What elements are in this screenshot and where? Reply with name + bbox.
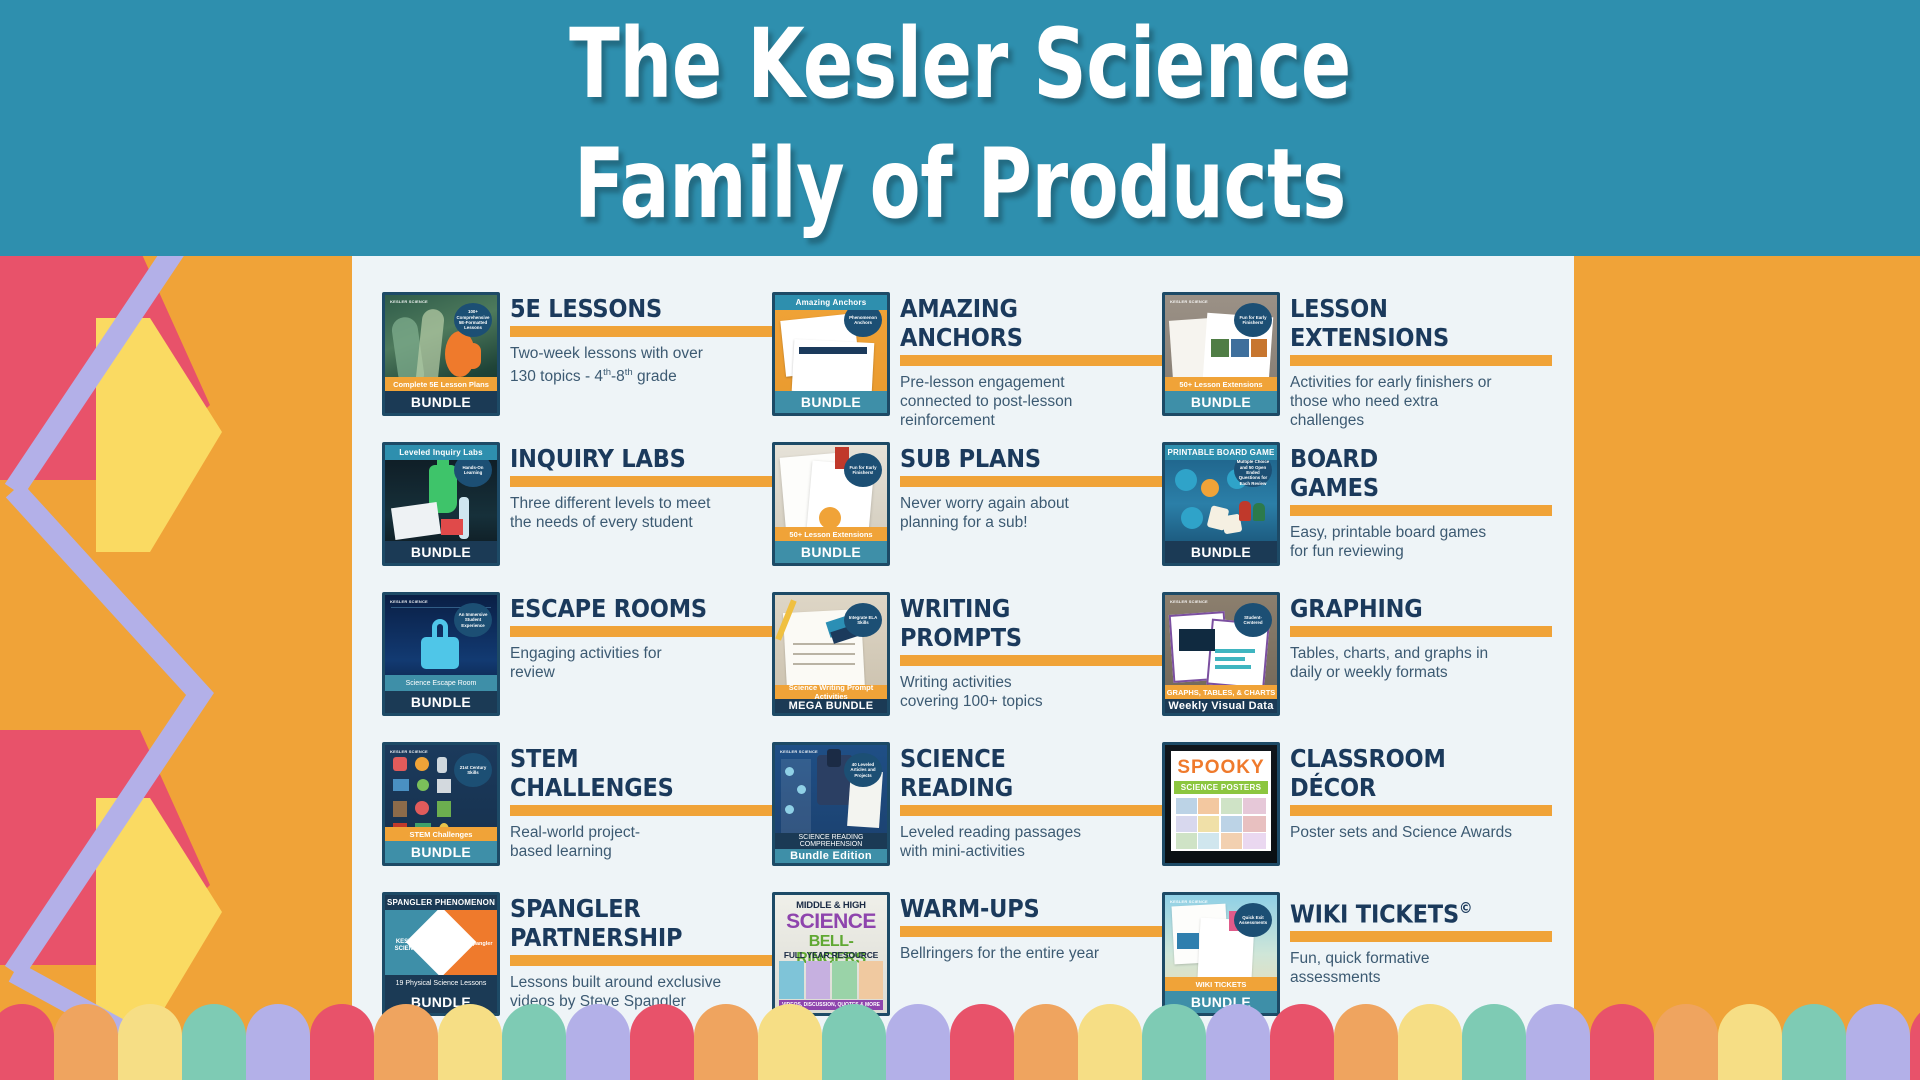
product-thumbnail[interactable]: KESLER SCIENCE40 Leveled Articles and Pr… xyxy=(772,742,890,866)
bellringer-grid xyxy=(779,961,883,999)
scallop xyxy=(1334,1004,1398,1080)
scallop xyxy=(1398,1004,1462,1080)
spooky-subtitle: SCIENCE POSTERS xyxy=(1174,781,1268,794)
product-text-block: LESSON EXTENSIONSActivities for early fi… xyxy=(1290,292,1552,430)
product-title: WRITING PROMPTS xyxy=(900,594,1162,652)
product-title: CLASSROOM DÉCOR xyxy=(1290,744,1552,802)
art-detail xyxy=(421,637,459,669)
art-detail xyxy=(1253,503,1265,521)
thumbnail-badge: Fun for Early Finishers! xyxy=(1234,303,1272,337)
product-description: Tables, charts, and graphs in daily or w… xyxy=(1290,644,1552,682)
bundle-label: BUNDLE xyxy=(385,691,497,713)
scallop xyxy=(1910,1004,1920,1080)
art-detail xyxy=(437,779,451,793)
product-description: Easy, printable board games for fun revi… xyxy=(1290,523,1552,561)
art-detail xyxy=(393,779,409,791)
scallop xyxy=(182,1004,246,1080)
scallop xyxy=(1590,1004,1654,1080)
kesler-science-logo: KESLER SCIENCE xyxy=(780,750,818,755)
scallop xyxy=(1014,1004,1078,1080)
spangler-left-logo: KESLER SCIENCE xyxy=(391,939,425,953)
product-description: Poster sets and Science Awards xyxy=(1290,823,1552,842)
product-text-block: SCIENCE READINGLeveled reading passages … xyxy=(900,742,1162,861)
product-title: ESCAPE ROOMS xyxy=(510,594,772,623)
bellringer-cell xyxy=(832,961,857,999)
art-detail xyxy=(1215,657,1245,661)
title-underline-bar xyxy=(510,626,772,637)
art-detail xyxy=(1201,479,1219,497)
bellringer-line4: FULL YEAR RESOURCE xyxy=(779,950,883,960)
poster-thumb xyxy=(1243,833,1266,849)
thumbnail-sub-band: Science Escape Room xyxy=(385,675,497,691)
product-description: Bellringers for the entire year xyxy=(900,944,1162,963)
art-detail xyxy=(1175,469,1197,491)
product-description: Real-world project- based learning xyxy=(510,823,772,861)
title-underline-bar xyxy=(900,355,1162,366)
product-title: LESSON EXTENSIONS xyxy=(1290,294,1552,352)
scallop xyxy=(1206,1004,1270,1080)
scallop xyxy=(118,1004,182,1080)
thumbnail-badge: 100+ Comprehensive 5E-Formatted Lessons xyxy=(454,303,492,337)
thumbnail-badge: 40 Leveled Articles and Projects xyxy=(844,753,882,787)
bundle-label: Bundle Edition xyxy=(775,849,887,863)
scallop xyxy=(1782,1004,1846,1080)
poster-thumb xyxy=(1198,833,1219,849)
thumbnail-badge: Fun for Early Finishers! xyxy=(844,453,882,487)
art-detail xyxy=(793,643,855,645)
product-thumbnail[interactable]: KESLER SCIENCEFun for Early Finishers!BU… xyxy=(1162,292,1280,416)
product-thumbnail[interactable]: Fun for Early Finishers!BUNDLE50+ Lesson… xyxy=(772,442,890,566)
art-detail xyxy=(415,757,429,771)
scallop xyxy=(502,1004,566,1080)
scallop xyxy=(886,1004,950,1080)
title-underline-bar xyxy=(900,476,1162,487)
scallop xyxy=(694,1004,758,1080)
product-description: Two-week lessons with over130 topics - 4… xyxy=(510,344,772,386)
poster-thumb xyxy=(1176,833,1197,849)
bundle-label: BUNDLE xyxy=(1165,391,1277,413)
poster-thumb xyxy=(1221,833,1242,849)
title-underline-bar xyxy=(900,655,1162,666)
product-thumbnail[interactable]: KESLER SCIENCEHands-On LearningLeveled I… xyxy=(382,442,500,566)
poster-thumb xyxy=(1198,816,1219,832)
thumbnail-top-band: Amazing Anchors xyxy=(775,295,887,310)
art-detail xyxy=(785,805,794,814)
product-title: AMAZING ANCHORS xyxy=(900,294,1162,352)
scallop xyxy=(1142,1004,1206,1080)
product-title: BOARD GAMES xyxy=(1290,444,1552,502)
product-title: SPANGLER PARTNERSHIP xyxy=(510,894,772,952)
scallop xyxy=(1462,1004,1526,1080)
art-detail xyxy=(437,801,451,817)
thumbnail-orange-band: GRAPHS, TABLES, & CHARTS xyxy=(1165,685,1277,699)
spangler-right-logo: stevespangler xyxy=(455,941,493,948)
thumbnail-badge: 21st Century Skills xyxy=(454,753,492,787)
title-underline-bar xyxy=(510,476,772,487)
art-detail xyxy=(793,653,855,655)
product-thumbnail[interactable]: Integrate ELA SkillsMEGA BUNDLEScience W… xyxy=(772,592,890,716)
kesler-science-logo: KESLER SCIENCE xyxy=(390,600,428,605)
thumbnail-top-band: SPANGLER PHENOMENON xyxy=(385,895,497,910)
product-text-block: ESCAPE ROOMSEngaging activities for revi… xyxy=(510,592,772,682)
art-detail xyxy=(819,507,841,529)
product-description: Activities for early finishers or those … xyxy=(1290,373,1552,430)
product-thumbnail[interactable]: KESLER SCIENCEstevespanglerSPANGLER PHEN… xyxy=(382,892,500,1016)
art-detail xyxy=(1231,339,1249,357)
product-text-block: WRITING PROMPTSWriting activities coveri… xyxy=(900,592,1162,711)
product-grid: KESLER SCIENCE100+ Comprehensive 5E-Form… xyxy=(382,292,1562,1042)
product-text-block: SUB PLANSNever worry again about plannin… xyxy=(900,442,1162,532)
thumbnail-orange-band: 50+ Lesson Extensions xyxy=(775,527,887,541)
product-card[interactable]: Integrate ELA SkillsMEGA BUNDLEScience W… xyxy=(772,592,1162,742)
scallop xyxy=(54,1004,118,1080)
art-detail xyxy=(799,347,867,354)
product-title: WARM-UPS xyxy=(900,894,1162,923)
scallop xyxy=(822,1004,886,1080)
poster-thumb xyxy=(1243,798,1266,814)
product-text-block: WARM-UPSBellringers for the entire year xyxy=(900,892,1162,963)
scallop xyxy=(1526,1004,1590,1080)
scallop xyxy=(438,1004,502,1080)
art-detail xyxy=(797,785,806,794)
product-text-block: INQUIRY LABSThree different levels to me… xyxy=(510,442,772,532)
thumbnail-badge: Student-Centered xyxy=(1234,603,1272,637)
title-underline-bar xyxy=(1290,355,1552,366)
product-text-block: AMAZING ANCHORSPre-lesson engagement con… xyxy=(900,292,1162,430)
scallop xyxy=(1654,1004,1718,1080)
art-detail xyxy=(1239,501,1251,521)
copyright-symbol: © xyxy=(1459,899,1472,917)
scallop xyxy=(310,1004,374,1080)
product-text-block: 5E LESSONSTwo-week lessons with over130 … xyxy=(510,292,772,386)
art-detail xyxy=(793,663,855,665)
art-detail xyxy=(393,801,407,817)
product-text-block: STEM CHALLENGESReal-world project- based… xyxy=(510,742,772,861)
product-description: Engaging activities for review xyxy=(510,644,772,682)
scallop-border xyxy=(0,1000,1920,1080)
product-thumbnail[interactable]: KESLER SCIENCEQuick Exit AssessmentsBUND… xyxy=(1162,892,1280,1016)
product-text-block: WIKI TICKETS©Fun, quick formative assess… xyxy=(1290,892,1552,987)
product-card[interactable]: KESLER SCIENCEIncludes 75 Multiple Choic… xyxy=(1162,442,1552,592)
bundle-label: Weekly Visual Data xyxy=(1165,699,1277,713)
art-detail xyxy=(441,519,463,535)
product-card[interactable]: KESLER SCIENCEHands-On LearningLeveled I… xyxy=(382,442,772,592)
art-detail xyxy=(437,757,447,773)
product-thumbnail[interactable]: KESLER SCIENCEAn Immersive Student Exper… xyxy=(382,592,500,716)
bellringer-line2: SCIENCE xyxy=(779,911,883,932)
product-card[interactable]: Fun for Early Finishers!BUNDLE50+ Lesson… xyxy=(772,442,1162,592)
poster-thumbs xyxy=(1174,796,1268,851)
scallop xyxy=(1270,1004,1334,1080)
scallop xyxy=(0,1004,54,1080)
page-title: The Kesler Science Family of Products xyxy=(134,4,1785,244)
thumbnail-orange-band: 50+ Lesson Extensions xyxy=(1165,377,1277,391)
product-card[interactable]: KESLER SCIENCEFun for Early Finishers!BU… xyxy=(1162,292,1552,442)
product-description: Pre-lesson engagement connected to post-… xyxy=(900,373,1162,430)
title-underline-bar xyxy=(1290,626,1552,637)
scallop xyxy=(566,1004,630,1080)
bundle-label: BUNDLE xyxy=(775,391,887,413)
art-detail xyxy=(1215,665,1251,669)
kesler-science-logo: KESLER SCIENCE xyxy=(390,300,428,305)
bundle-label: MEGA BUNDLE xyxy=(775,699,887,713)
scallop xyxy=(630,1004,694,1080)
bundle-label: BUNDLE xyxy=(385,391,497,413)
product-card[interactable]: KESLER SCIENCEStudent-CenteredWeekly Vis… xyxy=(1162,592,1552,742)
product-card[interactable]: KESLER SCIENCE40 Leveled Articles and Pr… xyxy=(772,742,1162,892)
title-underline-bar xyxy=(900,926,1162,937)
art-detail xyxy=(1177,933,1199,949)
title-underline-bar xyxy=(900,805,1162,816)
art-detail xyxy=(1215,649,1255,653)
bellringer-cell xyxy=(779,961,804,999)
product-card[interactable]: KESLER SCIENCEAn Immersive Student Exper… xyxy=(382,592,772,742)
product-card[interactable]: Phenomenon AnchorsAmazing AnchorsBUNDLEA… xyxy=(772,292,1162,442)
thumbnail-top-band: Leveled Inquiry Labs xyxy=(385,445,497,460)
product-card[interactable]: KESLER SCIENCE100+ Comprehensive 5E-Form… xyxy=(382,292,772,442)
scallop xyxy=(1718,1004,1782,1080)
product-description: Never worry again about planning for a s… xyxy=(900,494,1162,532)
product-description: Writing activities covering 100+ topics xyxy=(900,673,1162,711)
kesler-science-logo: KESLER SCIENCE xyxy=(1170,600,1208,605)
thumbnail-badge: Integrate ELA Skills xyxy=(844,603,882,637)
product-text-block: SPANGLER PARTNERSHIPLessons built around… xyxy=(510,892,772,1011)
kesler-science-logo: KESLER SCIENCE xyxy=(1170,300,1208,305)
product-title: 5E LESSONS xyxy=(510,294,772,323)
title-underline-bar xyxy=(1290,505,1552,516)
product-title: WIKI TICKETS© xyxy=(1290,894,1552,928)
product-thumbnail[interactable]: KESLER SCIENCEStudent-CenteredWeekly Vis… xyxy=(1162,592,1280,716)
scallop xyxy=(950,1004,1014,1080)
bellringer-cell xyxy=(806,961,831,999)
art-detail xyxy=(1179,629,1215,651)
product-title: SUB PLANS xyxy=(900,444,1162,473)
product-thumbnail[interactable]: SPOOKYSCIENCE POSTERS xyxy=(1162,742,1280,866)
product-title: STEM CHALLENGES xyxy=(510,744,772,802)
product-thumbnail[interactable]: KESLER SCIENCE100+ Comprehensive 5E-Form… xyxy=(382,292,500,416)
poster-thumb xyxy=(1221,798,1242,814)
art-detail xyxy=(469,343,481,369)
product-title: SCIENCE READING xyxy=(900,744,1162,802)
title-underline-bar xyxy=(1290,805,1552,816)
poster-thumb xyxy=(1176,816,1197,832)
thumbnail-badge: An Immersive Student Experience xyxy=(454,603,492,637)
art-detail xyxy=(393,757,407,771)
art-detail xyxy=(785,767,794,776)
art-detail xyxy=(827,749,841,767)
product-text-block: CLASSROOM DÉCORPoster sets and Science A… xyxy=(1290,742,1552,842)
bellringer-cell xyxy=(859,961,884,999)
art-detail xyxy=(1181,507,1203,529)
thumbnail-orange-band: STEM Challenges xyxy=(385,827,497,841)
art-detail xyxy=(1211,339,1229,357)
product-title: GRAPHING xyxy=(1290,594,1552,623)
thumbnail-orange-band: Science Writing Prompt Activities xyxy=(775,685,887,699)
title-underline-bar xyxy=(510,955,772,966)
scallop xyxy=(1078,1004,1142,1080)
product-thumbnail[interactable]: KESLER SCIENCE21st Century SkillsBUNDLES… xyxy=(382,742,500,866)
product-title: INQUIRY LABS xyxy=(510,444,772,473)
product-text-block: BOARD GAMESEasy, printable board games f… xyxy=(1290,442,1552,561)
scallop xyxy=(758,1004,822,1080)
poster-thumb xyxy=(1243,816,1266,832)
spooky-title: SPOOKY xyxy=(1174,757,1268,779)
title-underline-bar xyxy=(510,805,772,816)
product-card[interactable]: SPOOKYSCIENCE POSTERS CLASSROOM DÉCORPos… xyxy=(1162,742,1552,892)
bundle-label: BUNDLE xyxy=(1165,541,1277,563)
art-detail xyxy=(391,502,441,540)
art-detail xyxy=(1251,339,1267,357)
product-thumbnail[interactable]: MIDDLE & HIGHSCIENCEBELL-RINGERSFULL YEA… xyxy=(772,892,890,1016)
bundle-label: BUNDLE xyxy=(385,841,497,863)
art-detail xyxy=(417,779,429,791)
poster-thumb xyxy=(1221,816,1242,832)
art-detail xyxy=(415,801,429,815)
product-thumbnail[interactable]: Phenomenon AnchorsAmazing AnchorsBUNDLE xyxy=(772,292,890,416)
title-underline-bar xyxy=(1290,931,1552,942)
thumbnail-orange-band: WIKI TICKETS xyxy=(1165,977,1277,991)
bundle-label: BUNDLE xyxy=(385,541,497,563)
product-description: Fun, quick formative assessments xyxy=(1290,949,1552,987)
kesler-science-logo: KESLER SCIENCE xyxy=(1170,900,1208,905)
thumbnail-badge: Quick Exit Assessments xyxy=(1234,903,1272,937)
thumbnail-orange-band: Complete 5E Lesson Plans xyxy=(385,377,497,391)
thumbnail-sub-band: SCIENCE READING COMPREHENSION xyxy=(775,833,887,849)
thumbnail-top-band: PRINTABLE BOARD GAME xyxy=(1165,445,1277,460)
poster-canvas: The Kesler Science Family of Products KE… xyxy=(0,0,1920,1080)
art-detail xyxy=(432,619,448,639)
product-description: Three different levels to meet the needs… xyxy=(510,494,772,532)
scallop xyxy=(1846,1004,1910,1080)
scallop xyxy=(374,1004,438,1080)
bundle-label: BUNDLE xyxy=(775,541,887,563)
poster-thumb xyxy=(1198,798,1219,814)
product-text-block: GRAPHINGTables, charts, and graphs in da… xyxy=(1290,592,1552,682)
thumbnail-sub-band: 19 Physical Science Lessons xyxy=(385,975,497,991)
poster-thumb xyxy=(1176,798,1197,814)
title-underline-bar xyxy=(510,326,772,337)
scallop xyxy=(246,1004,310,1080)
product-card[interactable]: KESLER SCIENCE21st Century SkillsBUNDLES… xyxy=(382,742,772,892)
kesler-science-logo: KESLER SCIENCE xyxy=(390,750,428,755)
product-thumbnail[interactable]: KESLER SCIENCEIncludes 75 Multiple Choic… xyxy=(1162,442,1280,566)
product-description: Leveled reading passages with mini-activ… xyxy=(900,823,1162,861)
